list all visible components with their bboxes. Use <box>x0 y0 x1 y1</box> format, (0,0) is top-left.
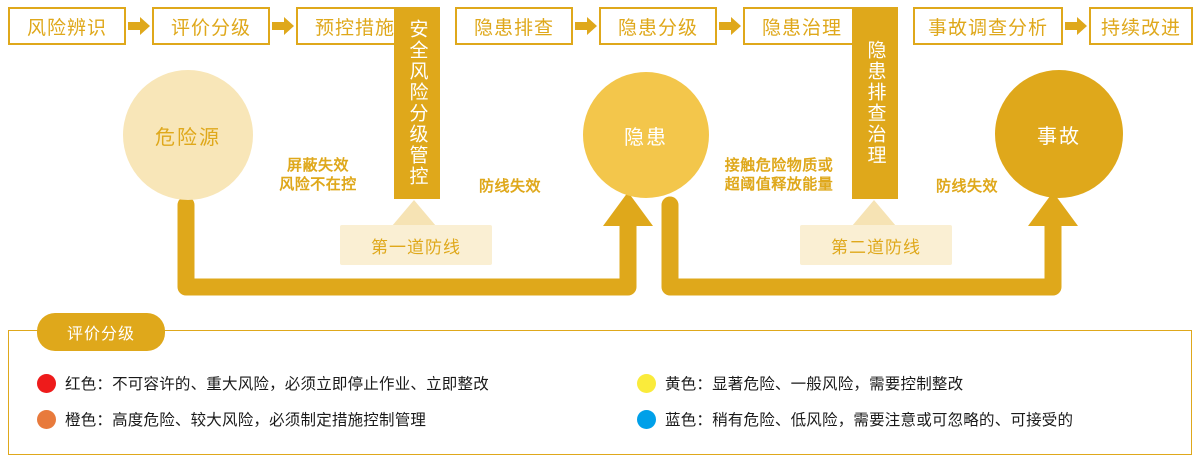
legend-text-orange: 橙色：高度危险、较大风险，必须制定措施控制管理 <box>65 408 426 430</box>
legend-item-blue: 蓝色：稍有危险、低风险，需要注意或可忽略的、可接受的 <box>637 401 1073 437</box>
caption-contact-hazardous-substance: 接触危险物质或 超阈值释放能量 <box>709 156 849 194</box>
flow-box-hidden-danger-treatment[interactable]: 隐患治理 <box>743 7 861 45</box>
arrow-right-icon <box>1065 17 1087 35</box>
diagram-canvas: 风险辨识 评价分级 预控措施 安全风险分级管控 隐患排查 隐患分级 隐患治理 隐… <box>0 0 1200 463</box>
legend-dot-orange-icon <box>37 410 56 429</box>
legend-text-yellow: 黄色：显著危险、一般风险，需要控制整改 <box>665 372 963 394</box>
arrow-right-icon <box>719 17 741 35</box>
legend-panel: 评价分级 红色：不可容许的、重大风险，必须立即停止作业、立即整改 橙色：高度危险… <box>8 330 1192 455</box>
defense-chip-first-line: 第一道防线 <box>340 225 492 265</box>
flow-box-accident-investigation-analysis[interactable]: 事故调查分析 <box>913 7 1063 45</box>
arrow-right-icon <box>575 17 597 35</box>
legend-item-red: 红色：不可容许的、重大风险，必须立即停止作业、立即整改 <box>37 365 489 401</box>
node-circle-hidden-danger: 隐患 <box>583 72 709 198</box>
legend-text-blue: 蓝色：稍有危险、低风险，需要注意或可忽略的、可接受的 <box>665 408 1073 430</box>
flow-box-continuous-improvement[interactable]: 持续改进 <box>1089 7 1193 45</box>
caption-defense-failure-first: 防线失效 <box>455 177 565 196</box>
legend-item-orange: 橙色：高度危险、较大风险，必须制定措施控制管理 <box>37 401 489 437</box>
flow-box-risk-identification[interactable]: 风险辨识 <box>8 7 126 45</box>
caption-shield-failure: 屏蔽失效 风险不在控 <box>258 156 378 194</box>
legend-text-red: 红色：不可容许的、重大风险，必须立即停止作业、立即整改 <box>65 372 489 394</box>
arrow-right-icon <box>272 17 294 35</box>
legend-dot-blue-icon <box>637 410 656 429</box>
defense-chip-second-line: 第二道防线 <box>800 225 952 265</box>
vertical-bar-hidden-danger-investigation-treatment: 隐患排查治理 <box>852 7 898 199</box>
legend-dot-red-icon <box>37 374 56 393</box>
node-circle-hazard-source: 危险源 <box>123 70 253 200</box>
vertical-bar-safety-risk-grading-control: 安全风险分级管控 <box>394 7 440 199</box>
flow-box-evaluation-grading[interactable]: 评价分级 <box>152 7 270 45</box>
legend-column-right: 黄色：显著危险、一般风险，需要控制整改 蓝色：稍有危险、低风险，需要注意或可忽略… <box>637 365 1073 437</box>
flow-box-hidden-danger-investigation[interactable]: 隐患排查 <box>455 7 573 45</box>
legend-item-yellow: 黄色：显著危险、一般风险，需要控制整改 <box>637 365 1073 401</box>
legend-dot-yellow-icon <box>637 374 656 393</box>
legend-title: 评价分级 <box>37 313 165 351</box>
arrow-right-icon <box>128 17 150 35</box>
caption-defense-failure-second: 防线失效 <box>912 177 1022 196</box>
flow-box-hidden-danger-grading[interactable]: 隐患分级 <box>599 7 717 45</box>
legend-column-left: 红色：不可容许的、重大风险，必须立即停止作业、立即整改 橙色：高度危险、较大风险… <box>37 365 489 437</box>
